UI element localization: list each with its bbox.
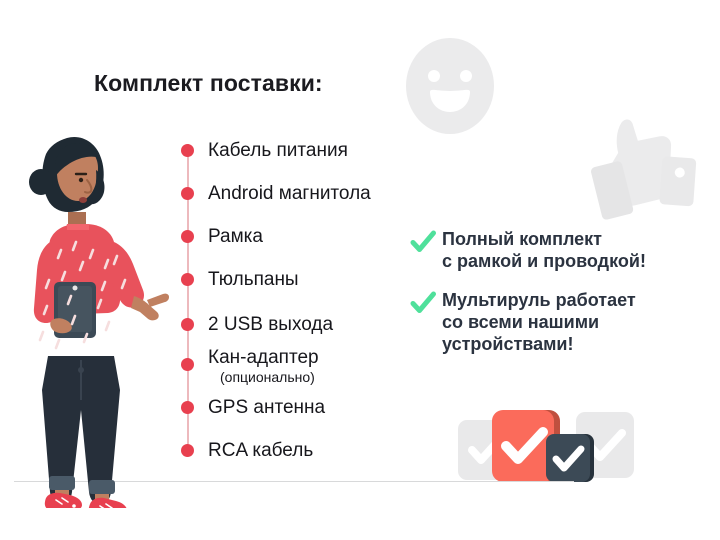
benefit-item: Полный комплект с рамкой и проводкой! xyxy=(410,228,700,273)
list-item-label: Тюльпаны xyxy=(208,270,299,289)
list-item-label: GPS антенна xyxy=(208,398,325,417)
bullet-icon xyxy=(181,187,194,200)
benefit-item: Мультируль работает со всеми нашими устр… xyxy=(410,289,700,356)
woman-with-tablet-illustration xyxy=(10,108,180,508)
ground-line xyxy=(14,481,574,482)
thumbs-up-icon xyxy=(574,108,706,224)
bullet-icon xyxy=(181,318,194,331)
list-item-label: Android магнитола xyxy=(208,184,371,203)
list-item-label: Кабель питания xyxy=(208,141,348,160)
kit-list: Кабель питания Android магнитола Рамка Т… xyxy=(178,128,438,458)
checkbox-tiles-icon xyxy=(458,404,634,490)
checkmark-icon xyxy=(410,290,436,316)
avito-wordmark: Avito xyxy=(644,503,693,525)
benefit-text: Мультируль работает со всеми нашими устр… xyxy=(442,289,636,356)
list-item-label: Рамка xyxy=(208,227,263,246)
checkmark-icon xyxy=(410,229,436,255)
bullet-icon xyxy=(181,358,194,371)
list-item-sublabel: (опционально) xyxy=(220,370,315,384)
list-item-label: RCA кабель xyxy=(208,441,313,460)
avito-watermark: Avito xyxy=(614,498,710,526)
benefits-list: Полный комплект с рамкой и проводкой! Му… xyxy=(410,228,700,372)
bullet-icon xyxy=(181,444,194,457)
bullet-icon xyxy=(181,144,194,157)
bullet-icon xyxy=(181,273,194,286)
list-item-label: 2 USB выхода xyxy=(208,315,333,334)
bullet-icon xyxy=(181,401,194,414)
list-item-label: Кан-адаптер xyxy=(208,348,319,367)
promo-image: Комплект поставки: Кабель питания Androi… xyxy=(0,0,720,540)
page-title: Комплект поставки: xyxy=(94,70,323,97)
smiley-face-icon xyxy=(404,34,496,138)
benefit-text: Полный комплект с рамкой и проводкой! xyxy=(442,228,646,273)
bullet-icon xyxy=(181,230,194,243)
